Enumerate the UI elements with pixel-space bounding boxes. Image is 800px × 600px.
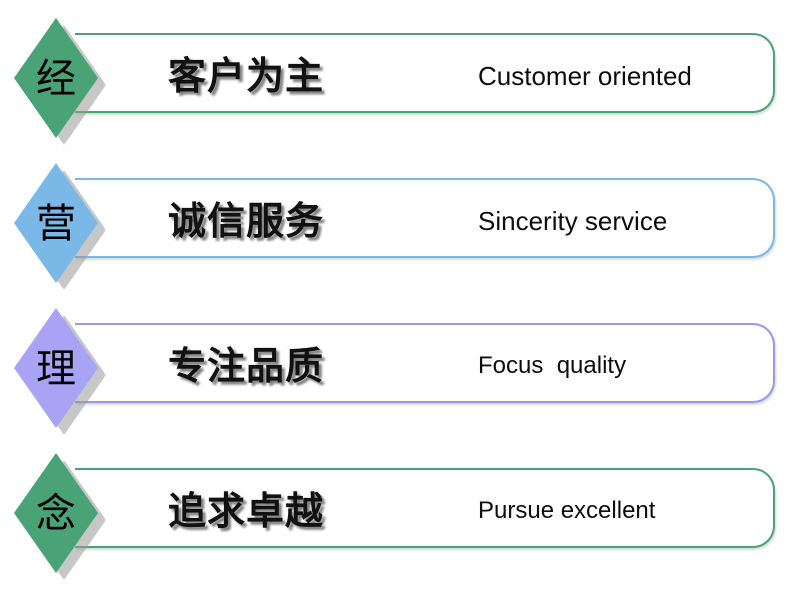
chinese-phrase-4: 追求卓越	[168, 490, 324, 532]
concept-row-sincerity-service[interactable]: 营 诚信服务 Sincerity service	[0, 160, 800, 305]
chinese-phrase-1: 客户为主	[168, 55, 324, 97]
chinese-phrase-2: 诚信服务	[168, 200, 324, 242]
english-phrase-3: Focus quality	[478, 349, 768, 383]
chinese-phrase-3: 专注品质	[168, 345, 324, 387]
concept-row-focus-quality[interactable]: 理 专注品质 Focus quality	[0, 305, 800, 450]
english-phrase-4: Pursue excellent	[478, 494, 768, 528]
slide-canvas: 经 客户为主 Customer oriented 营 诚信服务 Sincerit…	[0, 0, 800, 600]
diamond-badge-label-2: 营	[36, 204, 76, 244]
english-phrase-2: Sincerity service	[478, 204, 768, 238]
diamond-badge-label-1: 经	[36, 59, 76, 99]
diamond-badge-label-4: 念	[36, 494, 76, 534]
concept-row-customer-oriented[interactable]: 经 客户为主 Customer oriented	[0, 15, 800, 160]
english-phrase-1: Customer oriented	[478, 59, 768, 93]
concept-row-pursue-excellent[interactable]: 念 追求卓越 Pursue excellent	[0, 450, 800, 595]
diamond-badge-label-3: 理	[36, 349, 76, 389]
